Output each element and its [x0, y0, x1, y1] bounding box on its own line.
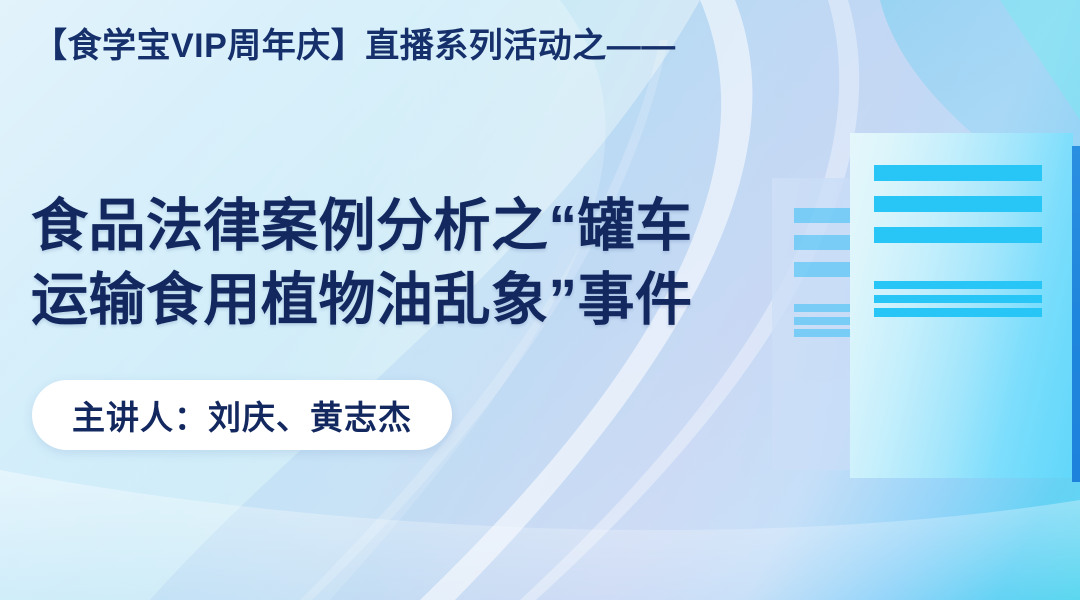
doc-front-bar	[874, 165, 1042, 181]
doc-front-bar	[874, 308, 1042, 317]
event-series-header: 【食学宝VIP周年庆】直播系列活动之——	[33, 26, 676, 67]
doc-front-bar	[874, 295, 1042, 303]
doc-front-bar	[874, 227, 1042, 243]
speaker-badge: 主讲人：刘庆、黄志杰	[32, 380, 452, 450]
document-card-spine	[1072, 146, 1080, 482]
document-card-front	[850, 133, 1073, 478]
webinar-banner: 【食学宝VIP周年庆】直播系列活动之—— 食品法律案例分析之“罐车 运输食用植物…	[0, 0, 1080, 600]
page-title: 食品法律案例分析之“罐车 运输食用植物油乱象”事件	[31, 190, 693, 337]
page-title-line-2: 运输食用植物油乱象”事件	[31, 264, 693, 338]
speaker-badge-label: 主讲人：刘庆、黄志杰	[72, 391, 412, 439]
page-title-line-1: 食品法律案例分析之“罐车	[31, 190, 693, 264]
doc-front-bar	[874, 281, 1042, 289]
doc-front-bar	[874, 196, 1042, 212]
